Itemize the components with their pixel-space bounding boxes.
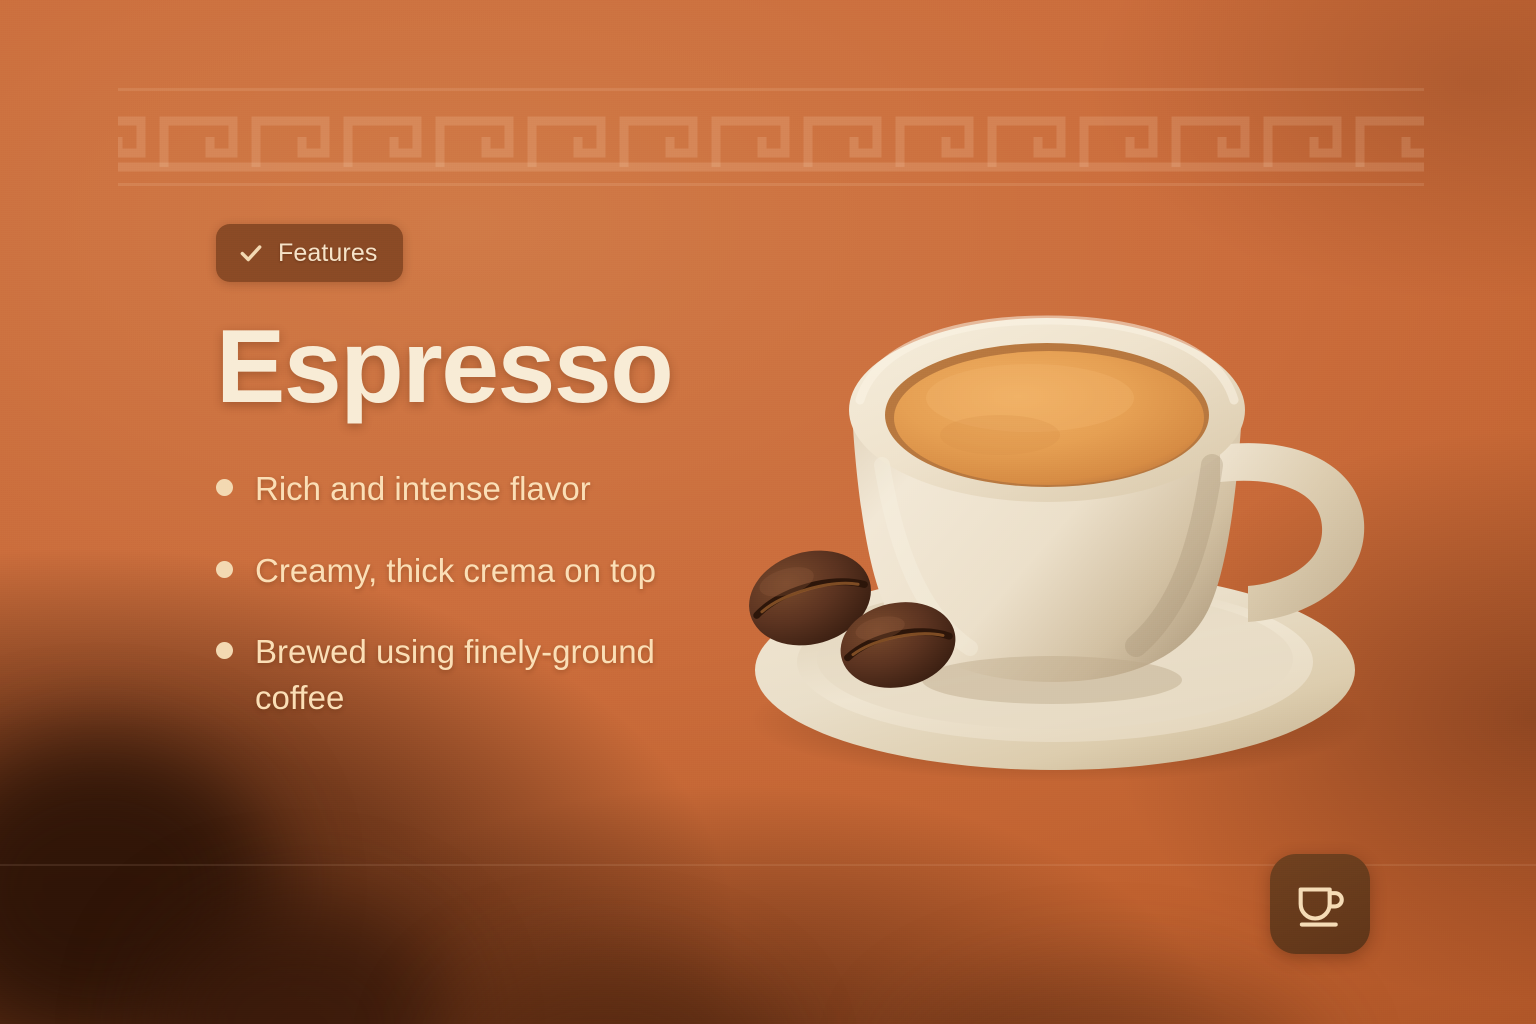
slide-canvas: Features Espresso Rich and intense flavo…: [0, 0, 1536, 1024]
background-noise-texture: [0, 0, 1536, 1024]
